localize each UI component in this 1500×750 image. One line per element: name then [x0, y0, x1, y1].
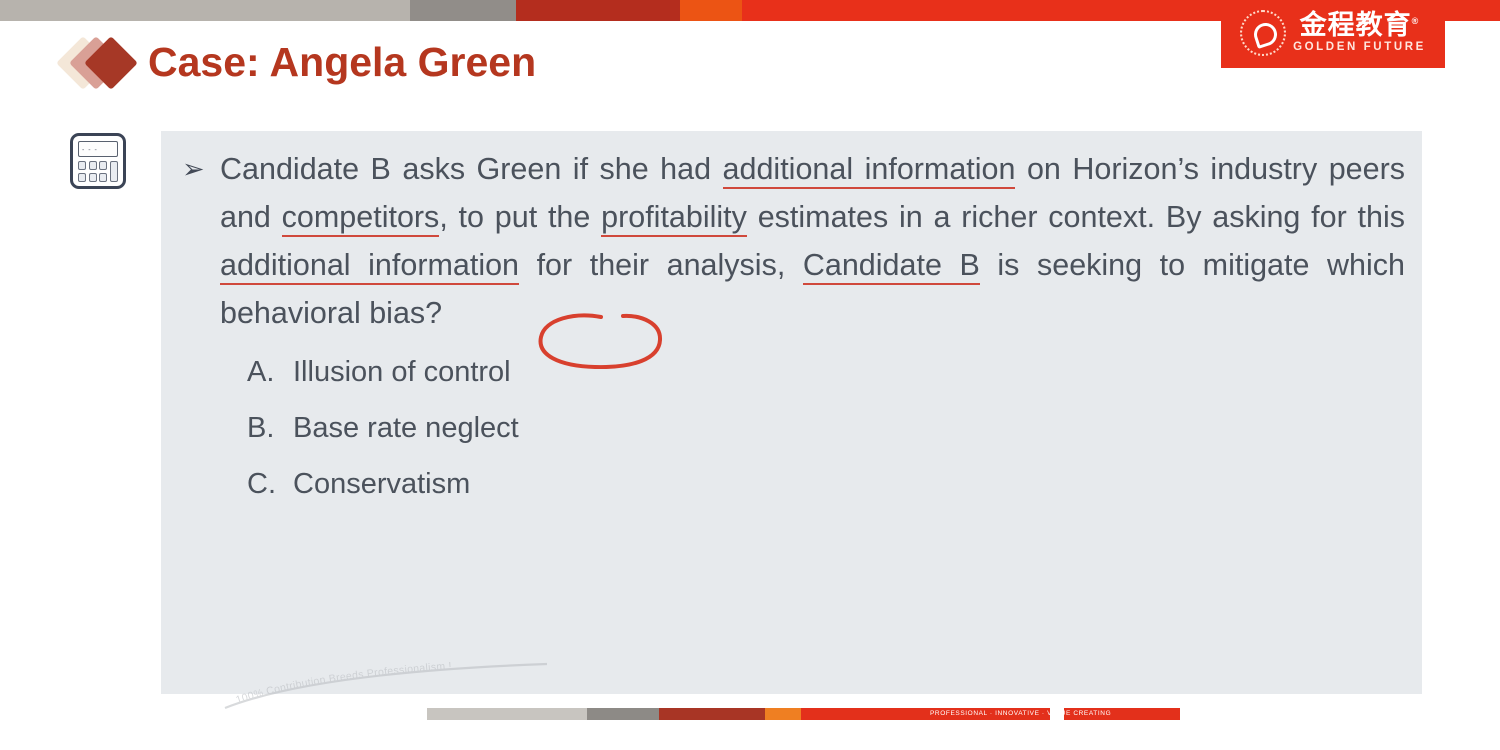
brand-name-chinese: 金程教育® — [1300, 12, 1420, 39]
brand-text-group: 金程教育® GOLDEN FUTURE — [1293, 12, 1426, 54]
question-circled-phrase: peers — [1329, 152, 1405, 186]
question-text-run: for their analysis, — [519, 248, 803, 282]
title-row: Case: Angela Green — [62, 33, 536, 91]
question-text: Candidate B asks Green if she had additi… — [220, 145, 1405, 337]
answer-choice-c-letter: C. — [247, 456, 293, 512]
question-bullet-row: ➢ Candidate B asks Green if she had addi… — [180, 145, 1405, 337]
question-text-run: estimates in a richer context. By asking… — [747, 200, 1405, 234]
question-underlined-phrase: competitors — [282, 200, 440, 237]
answer-choice-b-letter: B. — [247, 400, 293, 456]
answer-choice-a[interactable]: A. Illusion of control — [247, 344, 519, 400]
answer-choice-a-letter: A. — [247, 344, 293, 400]
top-bar-segment-orange — [680, 0, 742, 21]
calculator-screen: - - - — [78, 141, 118, 157]
question-text-run: and — [220, 200, 282, 234]
calculator-key — [99, 161, 107, 170]
calculator-key — [78, 173, 86, 182]
answer-choices-list: A. Illusion of control B. Base rate negl… — [247, 344, 519, 512]
question-text-run: Candidate B asks Green if she had — [220, 152, 723, 186]
brand-name-chinese-label: 金程教育 — [1300, 10, 1412, 40]
footer-bar-segment-dark-red — [659, 708, 765, 720]
footer-bar-segment-light-gray — [427, 708, 587, 720]
question-underlined-phrase: additional information — [220, 248, 519, 285]
answer-choice-b-label: Base rate neglect — [293, 400, 519, 456]
calculator-key-enter — [110, 161, 118, 182]
calculator-key — [99, 173, 107, 182]
question-underlined-phrase: profitability — [601, 200, 747, 237]
calculator-key — [89, 161, 97, 170]
top-bar-segment-mid-gray — [410, 0, 516, 21]
question-underlined-phrase: additional information — [723, 152, 1016, 189]
footer-bar-segment-mid-gray — [587, 708, 659, 720]
calculator-key — [89, 173, 97, 182]
diamond-logo-icon — [62, 33, 144, 91]
calculator-key — [78, 161, 86, 170]
watermark-tagline: 100% Contribution Breeds Professionalism… — [221, 662, 551, 712]
watermark-text: 100% Contribution Breeds Professionalism… — [234, 662, 452, 706]
calculator-icon: - - - — [70, 133, 126, 189]
question-text-run: on Horizon’s industry — [1015, 152, 1328, 186]
svg-text:100% Contribution Breeds Profe: 100% Contribution Breeds Professionalism… — [234, 662, 452, 706]
footer-tagline: PROFESSIONAL · INNOVATIVE · VALUE CREATI… — [930, 709, 1111, 719]
answer-choice-c-label: Conservatism — [293, 456, 470, 512]
question-text-run: , to put the — [439, 200, 601, 234]
calculator-screen-text: - - - — [82, 147, 98, 156]
answer-choice-b[interactable]: B. Base rate neglect — [247, 400, 519, 456]
brand-logo-banner: 金程教育® GOLDEN FUTURE — [1221, 0, 1445, 68]
top-bar-segment-light-gray — [0, 0, 410, 21]
footer-bar-segment-orange — [765, 708, 801, 720]
answer-choice-c[interactable]: C. Conservatism — [247, 456, 519, 512]
answer-choice-a-label: Illusion of control — [293, 344, 511, 400]
bullet-arrow-icon: ➢ — [180, 145, 220, 193]
registered-mark: ® — [1412, 16, 1420, 26]
golden-future-seal-icon — [1240, 10, 1286, 56]
question-underlined-phrase: Candidate B — [803, 248, 980, 285]
brand-name-english: GOLDEN FUTURE — [1293, 42, 1426, 54]
question-block: ➢ Candidate B asks Green if she had addi… — [180, 145, 1405, 337]
calculator-keys — [78, 161, 118, 182]
top-bar-segment-dark-red — [516, 0, 680, 21]
page-title: Case: Angela Green — [148, 39, 536, 86]
slide-content-panel: ➢ Candidate B asks Green if she had addi… — [161, 131, 1422, 694]
